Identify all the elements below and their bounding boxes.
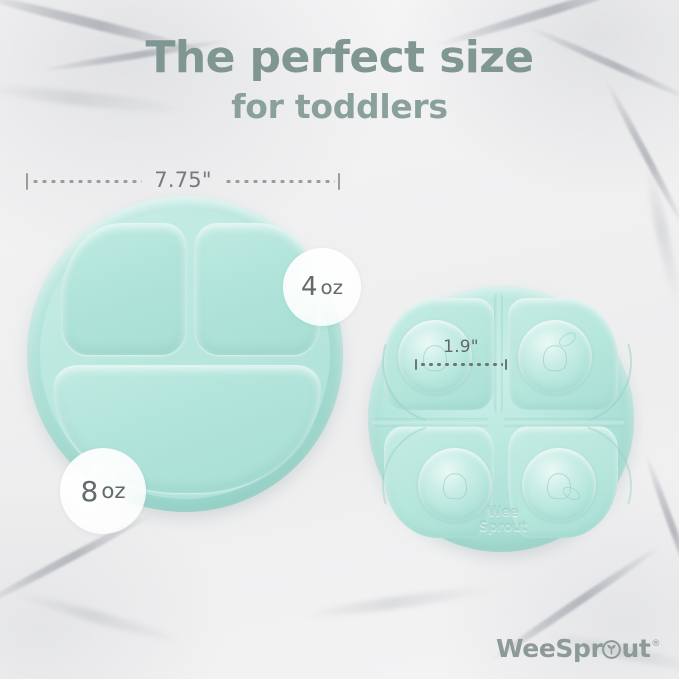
heading-block: The perfect size for toddlers [0,32,679,128]
channel-groove-horizontal-right [502,418,624,427]
embossed-brand-logo: Wee Sprout [455,505,551,547]
brand-logo: WeeSpr ut ® [496,634,660,663]
marble-vein [642,161,679,310]
suction-cup-top-right [518,320,592,394]
suction-cup-release-tab [561,484,583,503]
measure-end-cap-left [26,173,28,190]
channel-groove-horizontal-left [372,418,490,427]
brand-name-part1: WeeSpr [496,634,602,663]
suction-cup-nub [543,345,567,371]
marble-vein [12,587,188,648]
measure-dotted-line [419,363,503,366]
measure-end-cap-right [505,359,507,370]
compartment-top-left [62,223,186,355]
marble-vein [642,452,679,595]
capacity-badge-4oz: 4 oz [283,248,361,326]
suction-cup-nub [443,473,467,499]
page-title: The perfect size [0,32,679,84]
embossed-logo-line1: Wee [455,505,551,520]
embossed-logo-line2: Sprout [455,520,551,535]
registered-trademark-icon: ® [651,639,660,649]
product-infographic: The perfect size for toddlers 7.75" [0,0,679,679]
marble-vein [300,582,500,622]
measure-end-cap-right [338,173,340,190]
sprout-icon [602,636,621,655]
capacity-badge-8oz: 8 oz [60,448,146,534]
badge-value: 4 [301,272,318,302]
badge-unit: oz [101,479,125,504]
plate-width-measurement: 7.75" [26,168,340,194]
badge-value: 8 [80,475,98,508]
page-subtitle: for toddlers [0,86,679,128]
measure-end-cap-left [415,359,417,370]
brand-name-part2: ut [621,634,650,663]
suction-cup-measure-rule [415,358,507,370]
measure-dotted-line-left [31,180,142,183]
measure-dotted-line-right [224,180,335,183]
suction-cup-measurement: 1.9" [415,338,507,370]
suction-cup-diameter-label: 1.9" [415,338,507,357]
plate-width-label: 7.75" [145,168,220,192]
badge-unit: oz [321,276,343,299]
